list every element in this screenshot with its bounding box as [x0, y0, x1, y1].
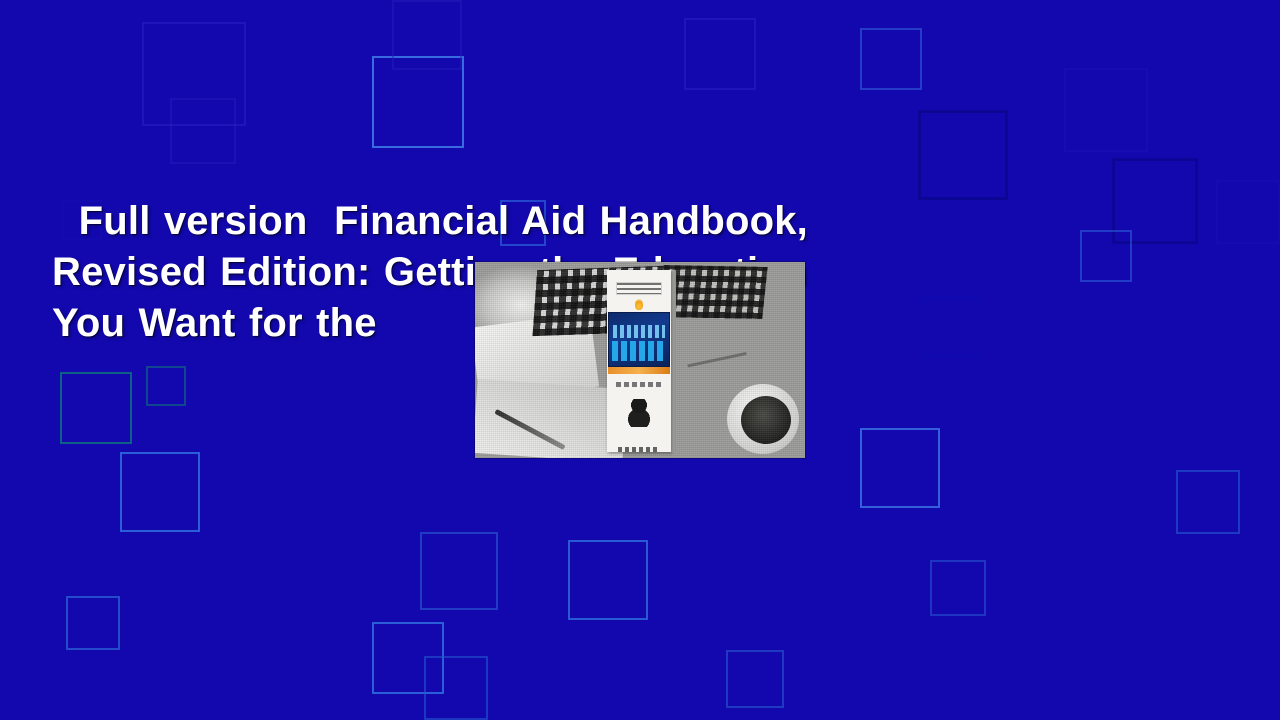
decorative-square — [1080, 230, 1132, 282]
decorative-square — [66, 596, 120, 650]
decorative-square — [146, 366, 186, 406]
cover-title-line-1 — [613, 325, 665, 338]
cover-author-text — [618, 447, 660, 452]
decorative-square — [684, 18, 756, 90]
decorative-square — [1112, 158, 1198, 244]
decorative-square — [1064, 68, 1148, 152]
decorative-square — [372, 56, 464, 148]
cover-accent-bar — [608, 367, 670, 373]
book-cover-front — [607, 270, 671, 452]
decorative-square — [860, 428, 940, 508]
book-cover-image — [475, 262, 805, 458]
decorative-square — [930, 560, 986, 616]
decorative-square — [726, 650, 784, 708]
cover-emblem-icon — [628, 399, 650, 426]
cover-subtitle-text — [616, 382, 662, 388]
cover-title-panel — [608, 312, 670, 367]
decorative-square — [568, 540, 648, 620]
decorative-square — [1176, 470, 1240, 534]
decorative-square — [120, 452, 200, 532]
decorative-square — [170, 98, 236, 164]
decorative-square — [424, 656, 488, 720]
decorative-square — [392, 0, 462, 70]
book-spine-edge — [671, 270, 676, 452]
flame-icon — [635, 299, 643, 310]
promo-slide: Full version Financial Aid Handbook, Rev… — [0, 0, 1280, 720]
decorative-square — [918, 110, 1008, 200]
decorative-square — [60, 372, 132, 444]
decorative-square — [142, 22, 246, 126]
decorative-square — [860, 28, 922, 90]
cover-top-text — [616, 282, 662, 295]
decorative-square — [372, 622, 444, 694]
decorative-square — [1216, 180, 1280, 244]
decorative-square — [420, 532, 498, 610]
decorative-square — [920, 296, 982, 358]
cover-title-line-2 — [612, 341, 666, 361]
